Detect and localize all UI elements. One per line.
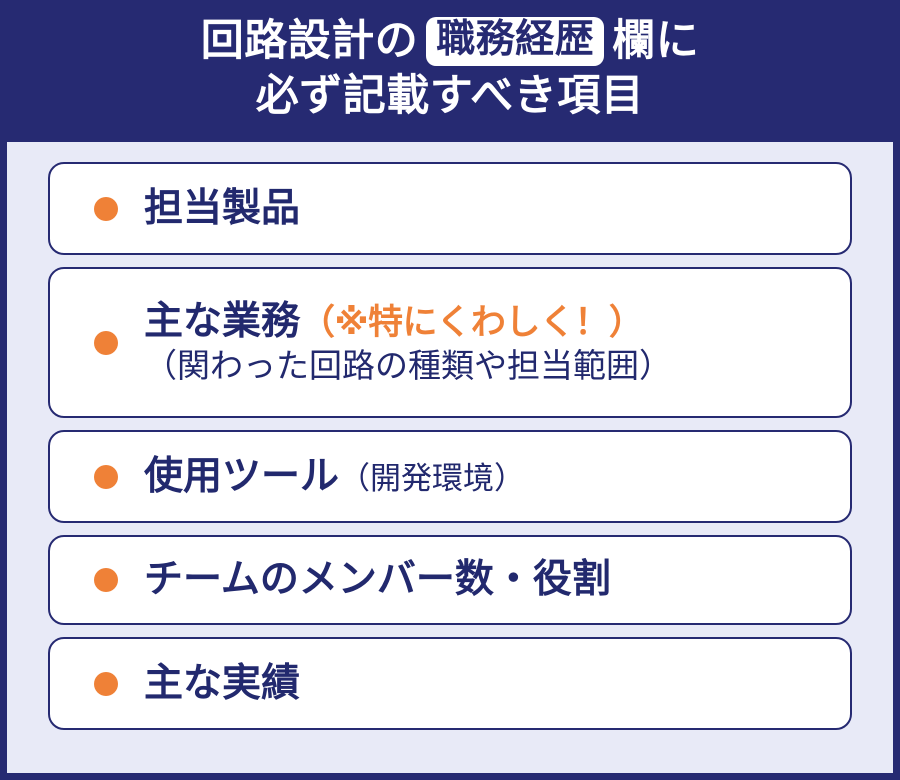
list-item[interactable]: チームのメンバー数・役割 [48, 535, 852, 625]
header-title-line-2: 必ず記載すべき項目 [0, 69, 900, 124]
bullet-dot-icon [94, 465, 118, 489]
header-highlight-chip: 職務経歴 [426, 17, 604, 66]
list-item-main-line: 担当製品 [144, 186, 832, 232]
list-item-main-line: 使用ツール（開発環境） [144, 454, 832, 500]
bullet-dot-icon [94, 331, 118, 355]
bullet-dot-icon [94, 568, 118, 592]
list-item[interactable]: 使用ツール（開発環境） [48, 430, 852, 523]
list-item-sub-line: （関わった回路の種類や担当範囲） [144, 347, 832, 386]
list-item-title: チームのメンバー数・役割 [144, 558, 611, 601]
list-item-main-line: 主な業務（※特にくわしく！） [144, 299, 832, 345]
checklist-card-list: 担当製品 主な業務（※特にくわしく！） （関わった回路の種類や担当範囲） 使用ツ… [7, 142, 893, 773]
bullet-dot-icon [94, 197, 118, 221]
list-item[interactable]: 主な実績 [48, 637, 852, 730]
header-title-suffix: 欄に [612, 14, 699, 69]
header-title-line-1: 回路設計の 職務経歴 欄に [0, 14, 900, 69]
list-item-title: 主な実績 [144, 662, 300, 705]
infographic-root: 回路設計の 職務経歴 欄に 必ず記載すべき項目 担当製品 主な業務（※特にくわし… [0, 0, 900, 780]
header-title-prefix: 回路設計の [201, 14, 419, 69]
header-banner: 回路設計の 職務経歴 欄に 必ず記載すべき項目 [0, 0, 900, 142]
list-item-text: 主な実績 [144, 661, 832, 707]
list-item-accent-note: （※特にくわしく！） [300, 303, 643, 342]
list-item-text: 主な業務（※特にくわしく！） （関わった回路の種類や担当範囲） [144, 299, 832, 386]
list-item-title: 使用ツール [144, 455, 339, 498]
list-item-text: チームのメンバー数・役割 [144, 557, 832, 603]
list-item-main-line: 主な実績 [144, 661, 832, 707]
list-item-main-line: チームのメンバー数・役割 [144, 557, 832, 603]
list-item-text: 使用ツール（開発環境） [144, 454, 832, 500]
list-item-inline-note: （開発環境） [339, 461, 525, 496]
list-item[interactable]: 主な業務（※特にくわしく！） （関わった回路の種類や担当範囲） [48, 267, 852, 418]
bullet-dot-icon [94, 672, 118, 696]
list-item-text: 担当製品 [144, 186, 832, 232]
list-item-title: 主な業務 [144, 300, 300, 343]
list-item-title: 担当製品 [144, 187, 300, 230]
list-item[interactable]: 担当製品 [48, 162, 852, 255]
